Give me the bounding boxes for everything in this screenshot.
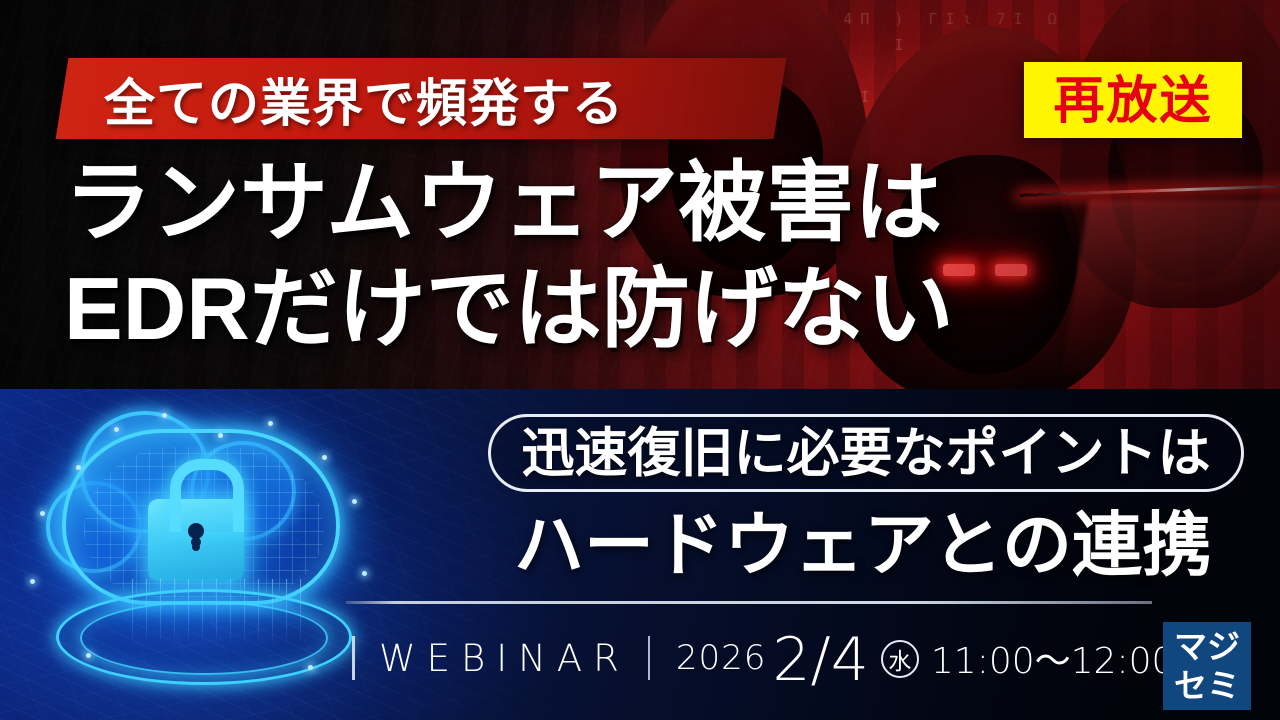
- cloud-body-shape: [62, 429, 340, 605]
- rebroadcast-badge-label: 再放送: [1053, 75, 1212, 126]
- sub-headline: ハードウェアとの連携: [478, 503, 1248, 587]
- cloud-bump-shape: [190, 441, 296, 541]
- logo-line-1: マジ: [1174, 627, 1240, 666]
- padlock-icon: [148, 499, 244, 581]
- subtitle-pill: 迅速復旧に必要なポイントは: [488, 414, 1244, 492]
- main-headline: ランサムウェア被害は EDRだけでは防げない: [64, 150, 1244, 362]
- event-year: 2026: [676, 638, 767, 678]
- headline-line-1: ランサムウェア被害は: [64, 150, 1244, 256]
- footer-tick-mark: [352, 636, 355, 680]
- logo-line-2: セミ: [1174, 666, 1240, 705]
- footer-vertical-separator: [648, 636, 650, 680]
- cloud-bump-shape: [46, 481, 142, 573]
- event-weekday-badge: 水: [881, 640, 919, 678]
- headline-line-2: EDRだけでは防げない: [64, 256, 1244, 362]
- footer-divider: [346, 601, 1152, 604]
- eyebrow-text: 全ての業界で頻発する: [104, 62, 794, 136]
- cloud-bump-shape: [80, 411, 210, 533]
- rebroadcast-badge: 再放送: [1024, 62, 1242, 138]
- subtitle-pill-text: 迅速復旧に必要なポイントは: [522, 427, 1211, 480]
- webinar-label: WEBINAR: [379, 637, 630, 680]
- webinar-banner: ( ) ] 7I 4Π ) ΓIι 7I Ω ICI L I 1ΠI OI C …: [0, 0, 1280, 720]
- footer-schedule: WEBINAR 2026 2/4 水 11:00〜12:00: [352, 626, 1174, 690]
- data-stream-lines: [132, 579, 302, 645]
- event-date: 2/4: [772, 625, 869, 695]
- cloud-lock-icon: [22, 403, 382, 703]
- platform-ring-inner: [80, 601, 328, 675]
- majisemi-logo: マジ セミ: [1163, 622, 1251, 710]
- event-time-range: 11:00〜12:00: [931, 632, 1175, 684]
- cloud-circuit-grid: [84, 447, 324, 597]
- network-node-dots: [22, 403, 382, 703]
- platform-ring-outer: [56, 589, 352, 685]
